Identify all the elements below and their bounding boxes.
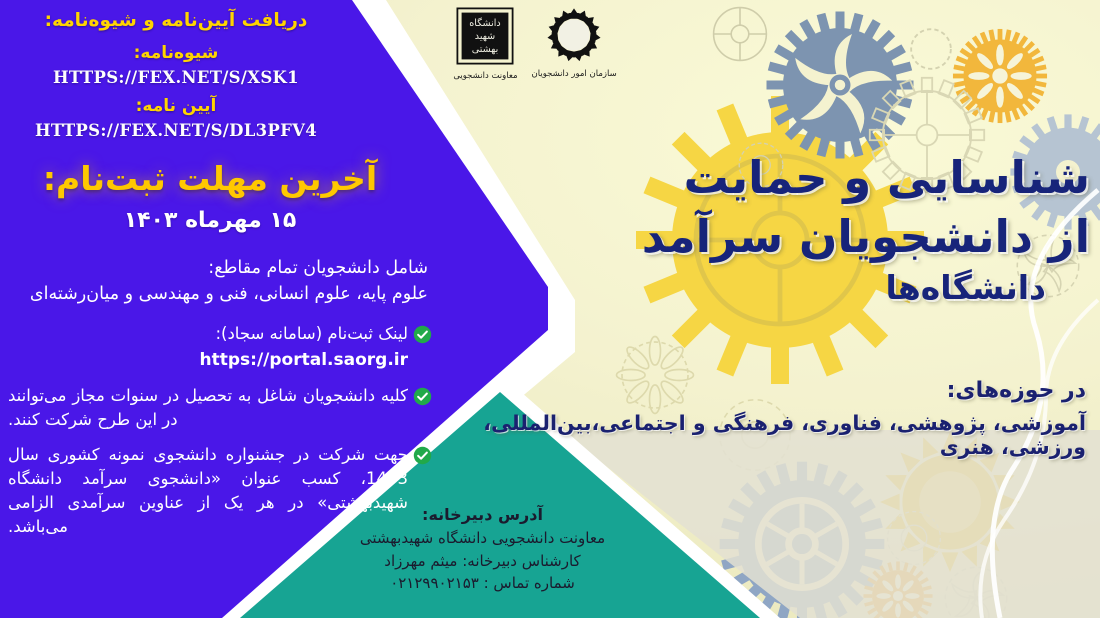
areas-title: در حوزه‌های: xyxy=(446,378,1086,403)
eligibility-line-1: شامل دانشجویان تمام مقاطع: xyxy=(10,255,428,281)
eligibility-line-2: علوم پایه، علوم انسانی، فنی و مهندسی و م… xyxy=(10,281,428,307)
check-circle-icon xyxy=(413,387,432,410)
deadline-block: آخرین مهلت ثبت‌نام: ۱۵ مهرماه ۱۴۰۳ xyxy=(0,160,420,233)
method-label: شیوه‌نامه: xyxy=(0,43,352,63)
check-circle-icon xyxy=(413,446,432,469)
regulation-label: آیین نامه: xyxy=(0,96,352,116)
secretariat-title: آدرس دبیرخانه: xyxy=(300,505,665,524)
areas-list: آموزشی، پژوهشی، فناوری، فرهنگی و اجتماعی… xyxy=(446,411,1086,459)
main-title-line-3: دانشگاه‌ها xyxy=(590,267,1090,310)
download-header-title: دریافت آیین‌نامه و شیوه‌نامه: xyxy=(0,0,352,34)
secretariat-expert: کارشناس دبیرخانه: میثم مهرزاد xyxy=(300,550,665,573)
university-logo-caption: معاونت دانشجویی xyxy=(453,71,517,82)
regulation-url-link[interactable]: HTTPS://FEX.NET/S/DL3PFV4 xyxy=(0,121,352,140)
deadline-date: ۱۵ مهرماه ۱۴۰۳ xyxy=(0,208,420,233)
page-title: شناسایی و حمایت از دانشجویان سرآمد دانشگ… xyxy=(590,148,1090,310)
gear-icon xyxy=(900,18,962,80)
university-seal-icon: دانشگاه شهید بهشتی xyxy=(455,6,515,66)
student-affairs-organization-caption: سازمان امور دانشجویان xyxy=(532,69,617,80)
areas-block: در حوزه‌های: آموزشی، پژوهشی، فناوری، فره… xyxy=(446,378,1086,459)
download-links-header: دریافت آیین‌نامه و شیوه‌نامه: شیوه‌نامه:… xyxy=(0,0,352,140)
svg-text:دانشگاه: دانشگاه xyxy=(470,17,501,29)
student-affairs-organization-logo: سازمان امور دانشجویان xyxy=(532,6,617,80)
secretariat-address: معاونت دانشجویی دانشگاه شهیدبهشتی xyxy=(300,527,665,550)
poster-root: دریافت آیین‌نامه و شیوه‌نامه: شیوه‌نامه:… xyxy=(0,0,1100,618)
deadline-title: آخرین مهلت ثبت‌نام: xyxy=(0,160,420,198)
shahid-beheshti-university-logo: دانشگاه شهید بهشتی معاونت دانشجویی xyxy=(453,6,517,82)
secretariat-block: آدرس دبیرخانه: معاونت دانشجویی دانشگاه ش… xyxy=(300,505,665,595)
check-circle-icon xyxy=(413,325,432,348)
svg-text:بهشتی: بهشتی xyxy=(472,44,499,55)
main-title-line-2: از دانشجویان سرآمد xyxy=(590,207,1090,266)
bullet-1-text: لینک ثبت‌نام (سامانه سجاد): xyxy=(215,324,408,343)
svg-text:شهید: شهید xyxy=(475,31,495,42)
eligibility-block: شامل دانشجویان تمام مقاطع: علوم پایه، عل… xyxy=(0,255,428,308)
method-url-link[interactable]: HTTPS://FEX.NET/S/XSK1 xyxy=(0,68,352,87)
list-item: لینک ثبت‌نام (سامانه سجاد): https://port… xyxy=(8,322,432,373)
gear-icon xyxy=(700,0,780,74)
list-item: کلیه دانشجویان شاغل به تحصیل در سنوات مج… xyxy=(8,384,432,432)
bullet-2-text: کلیه دانشجویان شاغل به تحصیل در سنوات مج… xyxy=(8,384,408,432)
registration-portal-link[interactable]: https://portal.saorg.ir xyxy=(8,348,408,373)
logo-row: سازمان امور دانشجویان دانشگاه شهید بهشتی… xyxy=(420,6,650,112)
secretariat-phone: شماره تماس : ۰۲۱۲۹۹۰۲۱۵۳ xyxy=(300,572,665,595)
main-title-line-1: شناسایی و حمایت xyxy=(590,148,1090,207)
starburst-icon xyxy=(543,6,605,64)
